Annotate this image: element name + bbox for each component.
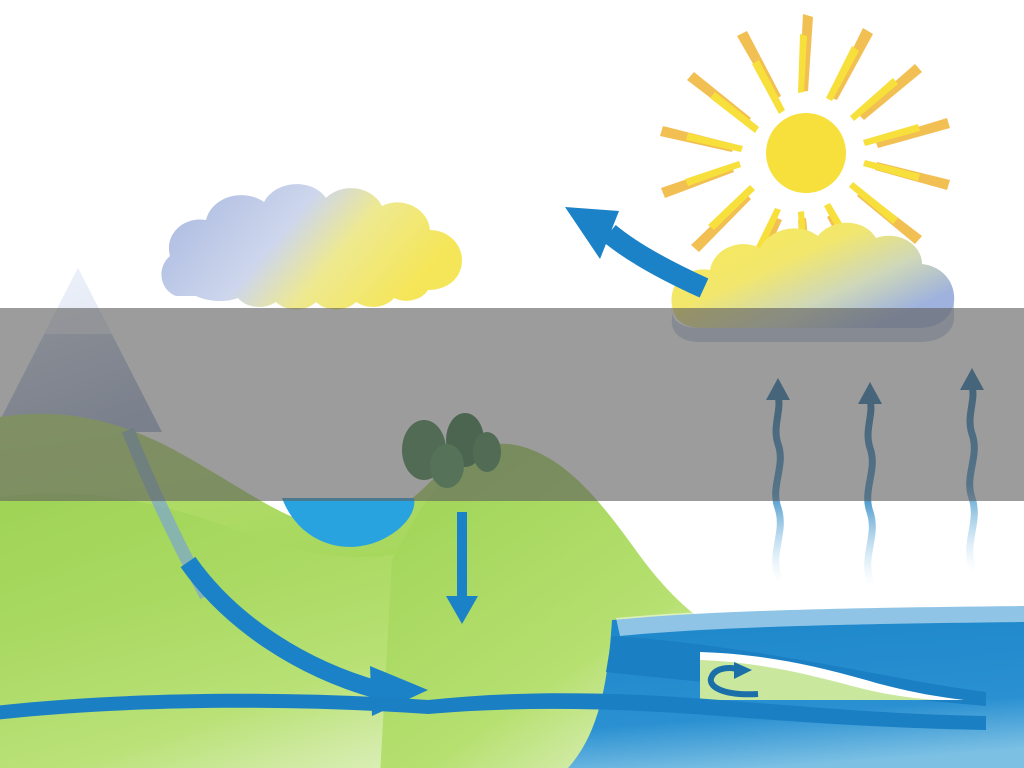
vapour-transport-arrow xyxy=(565,207,704,288)
cloud-formation xyxy=(161,184,462,309)
title-overlay-band xyxy=(0,308,1024,501)
slide-canvas xyxy=(0,0,1024,768)
sun-core xyxy=(766,113,846,193)
